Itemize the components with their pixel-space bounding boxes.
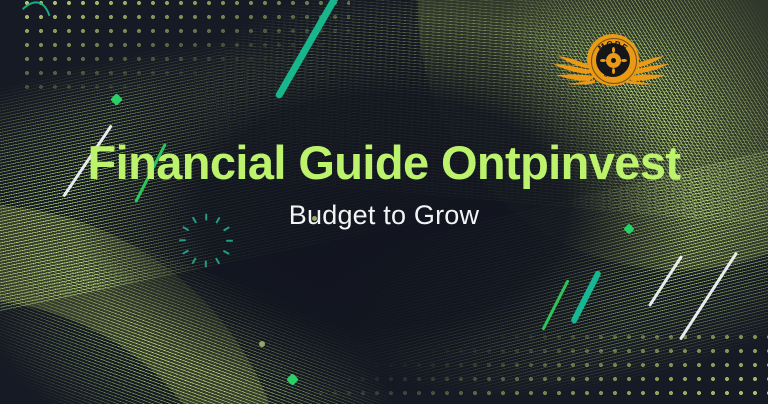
starburst-spoke — [223, 250, 230, 255]
halftone-dots-top-left — [20, 0, 350, 92]
green-diamond-icon — [286, 373, 299, 386]
olive-arc-bottom-left — [0, 205, 290, 404]
logo-nub-right — [621, 59, 627, 63]
page-subtitle: Budget to Grow — [0, 200, 768, 231]
logo-nub-bottom — [612, 68, 616, 74]
starburst-spoke — [205, 261, 207, 268]
olive-arc-bottom-left-cutout — [0, 300, 240, 404]
logo-core-dot — [611, 58, 616, 63]
logo-core — [606, 53, 621, 68]
halftone-dots-bottom-right — [300, 330, 768, 404]
promo-banner: MORE magazines Financial Guide Ontpinves… — [0, 0, 768, 404]
olive-dot-icon — [259, 341, 265, 347]
more-magazines-logo[interactable]: MORE magazines — [549, 25, 673, 103]
green-diamond-icon — [110, 93, 123, 106]
green-diagonal-stroke-bottom-right — [541, 279, 569, 330]
logo-badge: MORE magazines — [587, 34, 639, 86]
page-title: Financial Guide Ontpinvest — [0, 139, 768, 188]
starburst-spoke — [226, 240, 233, 242]
starburst-spoke — [182, 250, 189, 255]
white-diagonal-stroke-bottom-right — [648, 255, 683, 307]
teal-diagonal-stroke-bottom-right — [570, 270, 602, 324]
starburst-spoke — [192, 257, 197, 264]
starburst-spoke — [215, 257, 220, 264]
headline-block: Financial Guide Ontpinvest Budget to Gro… — [0, 139, 768, 231]
logo-nub-left — [600, 59, 606, 63]
logo-nub-top — [612, 47, 616, 53]
teal-diagonal-stroke — [274, 0, 340, 100]
logo-inner-disc — [596, 43, 630, 77]
white-diagonal-stroke-right — [679, 252, 738, 341]
starburst-spoke — [179, 240, 186, 242]
teal-curved-arc-icon — [0, 0, 63, 118]
